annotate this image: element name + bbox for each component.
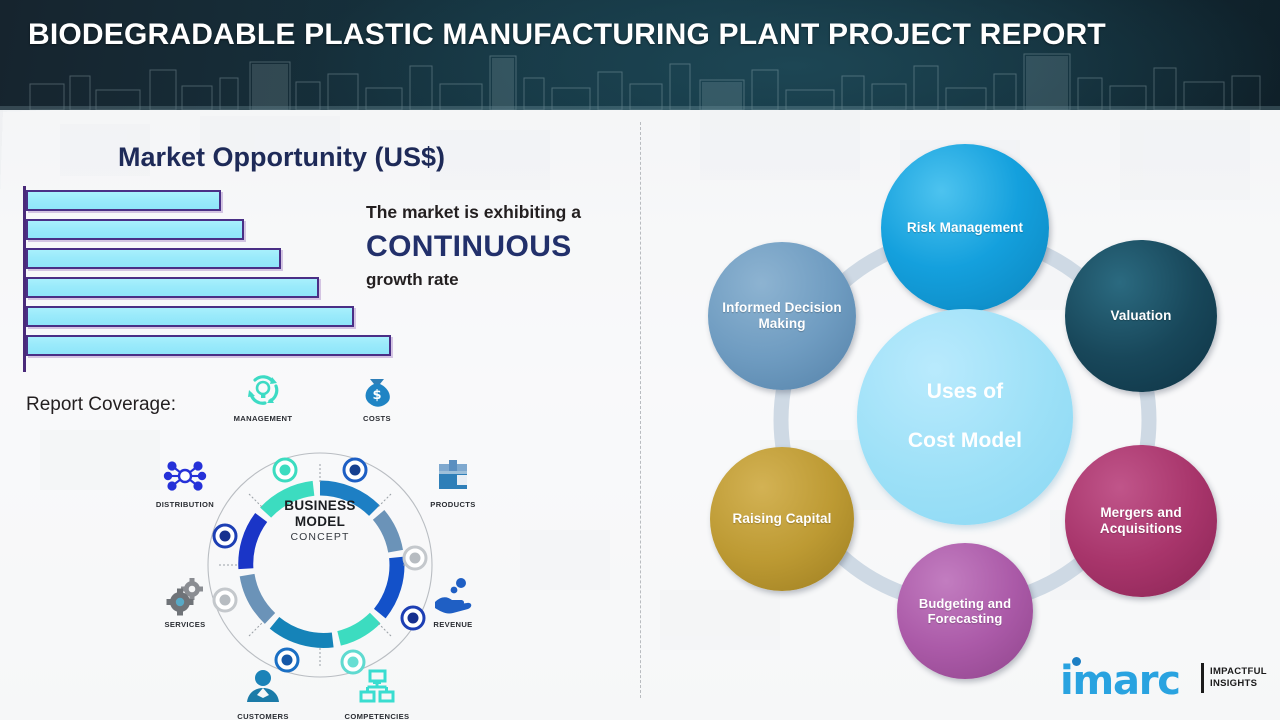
coverage-label-competencies: COMPETENCIES — [334, 712, 420, 720]
coverage-item-revenue[interactable]: REVENUE — [410, 576, 496, 629]
gears-icon — [142, 576, 228, 616]
package-box-icon — [410, 456, 496, 496]
money-bag-icon: $ — [334, 370, 420, 410]
logo-tagline-line-2: INSIGHTS — [1210, 678, 1267, 690]
coverage-label-products: PRODUCTS — [410, 500, 496, 509]
logo-dot-icon — [1072, 657, 1081, 666]
chart-bar — [26, 248, 281, 269]
business-model-diagram: BUSINESS MODEL CONCEPT MANAGEMENT — [140, 378, 500, 708]
market-opportunity-title: Market Opportunity (US$) — [118, 142, 445, 173]
coverage-label-distribution: DISTRIBUTION — [142, 500, 228, 509]
org-chart-icon — [334, 668, 420, 708]
imarc-logo[interactable]: imarc IMPACTFUL INSIGHTS — [1060, 656, 1260, 704]
slide-body: Market Opportunity (US$) The market is e… — [0, 110, 1280, 720]
coverage-item-management[interactable]: MANAGEMENT — [220, 370, 306, 423]
node-raising-capital[interactable]: Raising Capital — [710, 447, 854, 591]
coverage-item-services[interactable]: SERVICES — [142, 576, 228, 629]
city-skyline-graphic — [0, 48, 1280, 110]
person-group-icon — [220, 668, 306, 708]
coverage-item-costs[interactable]: $ COSTS — [334, 370, 420, 423]
node-budgeting-forecasting[interactable]: Budgeting and Forecasting — [897, 543, 1033, 679]
chart-bar — [26, 190, 221, 211]
node-risk-management[interactable]: Risk Management — [881, 144, 1049, 312]
network-nodes-icon — [142, 456, 228, 496]
coverage-item-customers[interactable]: CUSTOMERS — [220, 668, 306, 720]
page-title: BIODEGRADABLE PLASTIC MANUFACTURING PLAN… — [28, 16, 1148, 54]
chart-bar — [26, 335, 391, 356]
coverage-item-products[interactable]: PRODUCTS — [410, 456, 496, 509]
chart-bar — [26, 277, 319, 298]
node-center-uses-of-cost-model[interactable]: Uses of Cost Model — [857, 309, 1073, 525]
coverage-label-services: SERVICES — [142, 620, 228, 629]
callout-emphasis: CONTINUOUS — [366, 227, 634, 267]
chart-bar — [26, 219, 244, 240]
center-line-2: Cost Model — [902, 429, 1028, 454]
coverage-item-competencies[interactable]: COMPETENCIES — [334, 668, 420, 720]
center-line-1: Uses of — [902, 380, 1028, 405]
callout-line-2: growth rate — [366, 270, 634, 290]
coverage-label-revenue: REVENUE — [410, 620, 496, 629]
chart-bar — [26, 306, 354, 327]
coverage-label-customers: CUSTOMERS — [220, 712, 306, 720]
callout-line-1: The market is exhibiting a — [366, 202, 634, 223]
svg-text:$: $ — [372, 388, 381, 403]
coverage-label-costs: COSTS — [334, 414, 420, 423]
uses-of-cost-model-diagram: Risk Management Valuation Mergers and Ac… — [660, 110, 1280, 710]
business-model-ring — [195, 440, 445, 690]
page-header: BIODEGRADABLE PLASTIC MANUFACTURING PLAN… — [0, 0, 1280, 110]
node-mergers-acquisitions[interactable]: Mergers and Acquisitions — [1065, 445, 1217, 597]
coverage-label-management: MANAGEMENT — [220, 414, 306, 423]
panel-divider — [640, 122, 641, 698]
growth-callout: The market is exhibiting a CONTINUOUS gr… — [366, 202, 634, 290]
recycle-bulb-icon — [220, 370, 306, 410]
logo-tagline: IMPACTFUL INSIGHTS — [1210, 666, 1267, 691]
node-informed-decision-making[interactable]: Informed Decision Making — [708, 242, 856, 390]
logo-tagline-line-1: IMPACTFUL — [1210, 666, 1267, 678]
logo-divider-bar — [1201, 663, 1204, 693]
node-valuation[interactable]: Valuation — [1065, 240, 1217, 392]
coverage-item-distribution[interactable]: DISTRIBUTION — [142, 456, 228, 509]
hand-coins-icon — [410, 576, 496, 616]
market-opportunity-bar-chart — [18, 186, 418, 376]
